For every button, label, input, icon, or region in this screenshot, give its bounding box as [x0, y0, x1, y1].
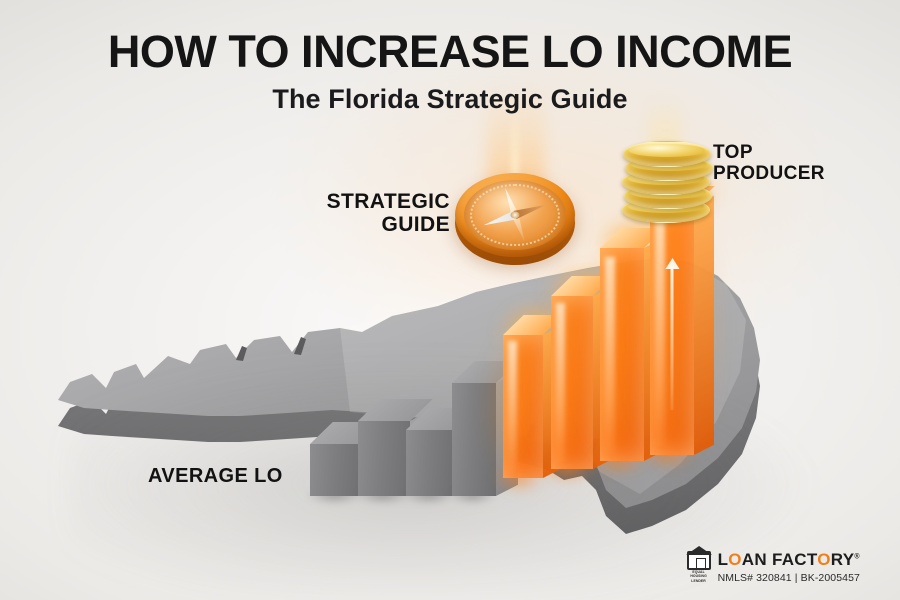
- label-top-producer-line1: TOP: [713, 143, 873, 164]
- label-strategic-guide-line2: GUIDE: [300, 214, 450, 237]
- up-arrow-icon: [671, 266, 674, 410]
- page-title: HOW TO INCREASE LO INCOME: [0, 26, 900, 78]
- chart-bar-gray-4: [452, 383, 496, 496]
- bar-front-face: [452, 383, 496, 496]
- ehl-caption-line1: EQUAL HOUSING: [687, 571, 711, 579]
- logo-text-block: LOAN FACTORY® NMLS# 320841 | BK-2005457: [718, 551, 860, 584]
- florida-map: [40, 232, 840, 562]
- compass-icon: [455, 173, 575, 257]
- label-top-producer: TOP PRODUCER: [713, 143, 873, 184]
- bar-front-face: [406, 430, 454, 496]
- equal-housing-lender-icon: EQUAL HOUSING LENDER: [687, 551, 711, 584]
- bar-front-face: [650, 206, 694, 455]
- bar-sheen: [655, 216, 665, 445]
- label-average-lo: AVERAGE LO: [148, 466, 283, 488]
- bar-front-face: [600, 248, 644, 461]
- bar-sheen: [605, 257, 615, 453]
- bar-sheen: [556, 303, 565, 462]
- chart-bar-gray-2: [358, 421, 410, 496]
- brand-suffix: RY: [831, 550, 855, 569]
- label-strategic-guide-line1: STRATEGIC: [300, 191, 450, 214]
- infographic-canvas: HOW TO INCREASE LO INCOME The Florida St…: [0, 0, 900, 600]
- label-strategic-guide: STRATEGIC GUIDE: [300, 191, 450, 236]
- chart-bar-orange-3: [600, 248, 644, 461]
- gold-coin-stack-icon: [620, 135, 710, 225]
- bar-front-face: [551, 296, 593, 469]
- brand-trademark: ®: [854, 553, 859, 560]
- chart-bar-orange-4: [650, 206, 694, 455]
- bar-side-face: [694, 196, 714, 455]
- chart-bar-gray-3: [406, 430, 454, 496]
- bar-sheen: [508, 341, 517, 473]
- coin: [623, 141, 711, 167]
- license-text: NMLS# 320841 | BK-2005457: [718, 572, 860, 584]
- chart-bar-orange-1: [503, 335, 543, 478]
- brand-mid: AN FACT: [742, 550, 817, 569]
- label-top-producer-line2: PRODUCER: [713, 164, 873, 185]
- chart-bar-orange-2: [551, 296, 593, 469]
- brand-prefix: L: [718, 550, 729, 569]
- coin-face: [629, 144, 705, 157]
- brand-name: LOAN FACTORY®: [718, 551, 860, 568]
- footer-logo: EQUAL HOUSING LENDER LOAN FACTORY® NMLS#…: [687, 551, 860, 584]
- house-icon: [687, 551, 711, 570]
- brand-o-1: O: [728, 550, 742, 569]
- page-subtitle: The Florida Strategic Guide: [0, 84, 900, 115]
- bar-front-face: [358, 421, 410, 496]
- brand-o-2: O: [817, 550, 831, 569]
- ehl-caption-line2: LENDER: [687, 580, 711, 584]
- bar-front-face: [503, 335, 543, 478]
- compass-pin: [511, 212, 520, 219]
